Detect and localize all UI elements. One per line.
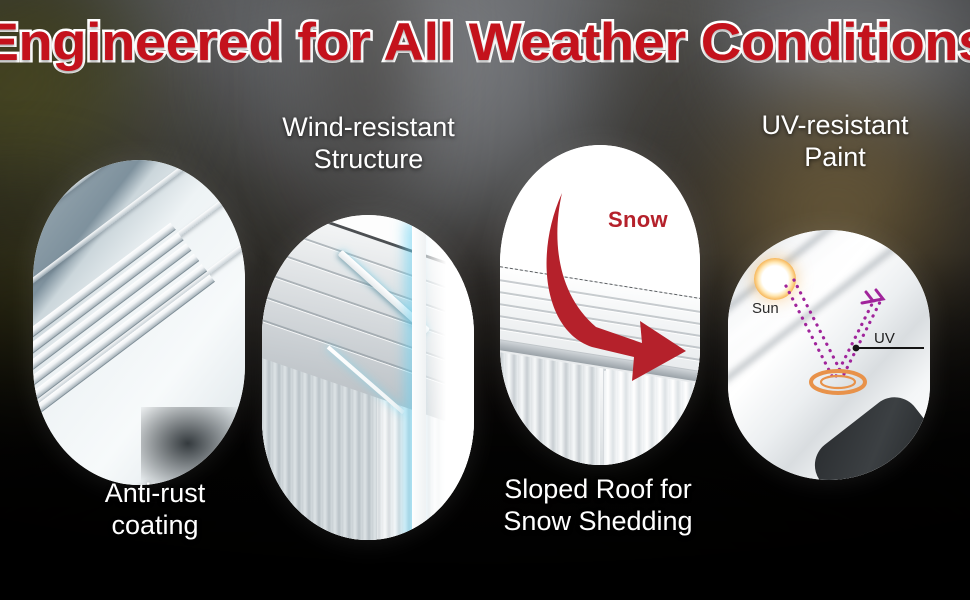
- feature-panel-uv-resistant[interactable]: Sun UV: [728, 230, 930, 480]
- feature-panel-sloped-roof[interactable]: Snow: [500, 145, 700, 465]
- uv-ray-diagram: [728, 230, 930, 480]
- headline-banner: Engineered for All Weather Conditions: [0, 16, 970, 69]
- incoming-ray: [786, 280, 840, 376]
- uv-paint-photo: Sun UV: [728, 230, 930, 480]
- headline-text: Engineered for All Weather Conditions: [0, 16, 970, 69]
- caption-uv-resistant: UV-resistant Paint: [700, 110, 970, 174]
- ray-arrowhead: [862, 290, 883, 303]
- snow-label: Snow: [608, 207, 668, 233]
- uv-label: UV: [874, 330, 895, 347]
- sun-label: Sun: [752, 300, 779, 317]
- snow-arrow-icon: [500, 145, 700, 465]
- anti-rust-photo: [33, 160, 245, 485]
- caption-anti-rust: Anti-rust coating: [0, 478, 310, 542]
- caption-sloped-roof: Sloped Roof for Snow Shedding: [438, 474, 758, 538]
- sheet-shadow: [141, 407, 245, 485]
- feature-panel-anti-rust[interactable]: [33, 160, 245, 485]
- infographic-canvas: Engineered for All Weather Conditions An…: [0, 0, 970, 600]
- caption-wind-resistant: Wind-resistant Structure: [236, 112, 501, 176]
- contact-ring-icon: [811, 371, 865, 393]
- sloped-roof-photo: Snow: [500, 145, 700, 465]
